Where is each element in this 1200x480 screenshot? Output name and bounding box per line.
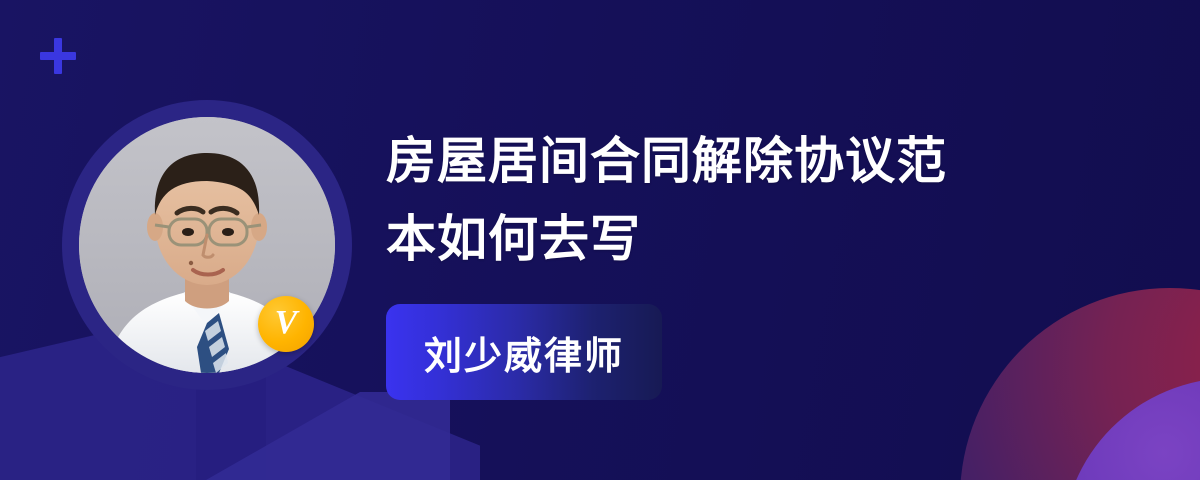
- author-name-button[interactable]: 刘少威律师: [386, 304, 662, 400]
- verified-badge-icon: V: [258, 296, 314, 352]
- banner-card: V 房屋居间合同解除协议范 本如何去写 刘少威律师: [0, 0, 1200, 480]
- plus-icon: [40, 38, 76, 74]
- banner-content: 房屋居间合同解除协议范 本如何去写 刘少威律师: [386, 122, 1176, 400]
- verified-badge-letter: V: [275, 306, 298, 340]
- avatar: V: [62, 100, 352, 390]
- page-title: 房屋居间合同解除协议范 本如何去写: [386, 122, 1176, 278]
